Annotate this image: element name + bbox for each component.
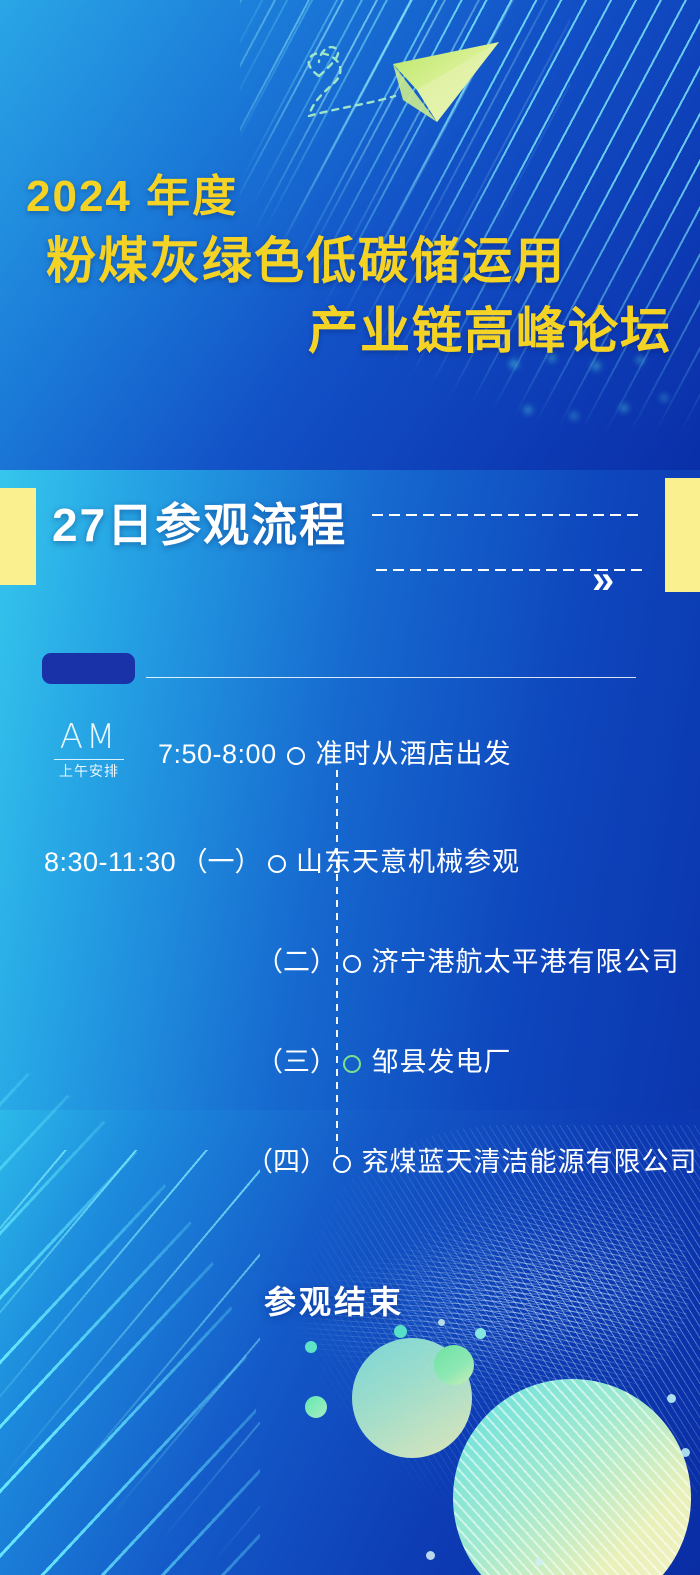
headline-line-2: 粉煤灰绿色低碳储运用 (0, 226, 700, 296)
period-label: 上午安排 (46, 762, 132, 780)
decor-dot (535, 1558, 543, 1566)
schedule-pill-badge (42, 653, 135, 684)
section-dashed-line-top (372, 514, 644, 516)
row-time: 8:30-11:30 (44, 847, 176, 877)
row-bullet-icon (343, 955, 361, 973)
row-index: （一） (181, 847, 262, 877)
row-text: 济宁港航太平港有限公司 (371, 947, 679, 977)
decor-dot (305, 1341, 317, 1353)
decor-dot (305, 1396, 327, 1418)
row-index: （二） (256, 947, 337, 977)
decor-dot (394, 1325, 407, 1338)
schedule-divider-line (146, 677, 636, 678)
section-title: 27日参观流程 (52, 492, 347, 558)
row-time: 7:50-8:00 (158, 739, 277, 769)
schedule-section: AM 上午安排 7:50-8:00 准时从酒店出发 8:30-11:30 （一）… (0, 592, 700, 1292)
paper-plane-icon (285, 28, 525, 148)
paper-plane-decoration (285, 28, 525, 148)
row-bullet-icon (287, 747, 305, 765)
row-index: （三） (256, 1047, 337, 1077)
period-rule (54, 759, 124, 760)
headline-line-1: 2024 年度 (0, 168, 700, 226)
row-bullet-icon (333, 1155, 351, 1173)
row-index: （四） (246, 1147, 327, 1177)
row-text: 兖煤蓝天清洁能源有限公司 (361, 1147, 697, 1177)
schedule-row: （二） 济宁港航太平港有限公司 (256, 940, 679, 979)
row-text: 邹县发电厂 (371, 1047, 511, 1077)
decor-dot (426, 1551, 435, 1560)
schedule-row: 8:30-11:30 （一） 山东天意机械参观 (44, 840, 520, 879)
headline-line-3-text: 产业链高峰论坛 (308, 303, 672, 359)
heart-dashed-trail-icon (309, 53, 341, 116)
period-marker: AM 上午安排 (46, 718, 132, 780)
poster-canvas: 2024 年度 粉煤灰绿色低碳储运用 产业链高峰论坛 27日参观流程 » AM … (0, 0, 700, 1575)
band-bar-right (665, 478, 700, 592)
decor-dot (438, 1319, 445, 1326)
band-bar-left (0, 488, 36, 585)
row-text: 准时从酒店出发 (316, 739, 512, 769)
headline-line-3: 产业链高峰论坛 (0, 296, 700, 366)
decor-dot (681, 1448, 690, 1457)
decor-dot (475, 1328, 486, 1339)
schedule-row: （四） 兖煤蓝天清洁能源有限公司 (246, 1140, 697, 1179)
decor-circle-small-green (434, 1345, 474, 1385)
decor-dot (667, 1394, 676, 1403)
schedule-row: （三） 邹县发电厂 (256, 1040, 511, 1079)
schedule-row: 7:50-8:00 准时从酒店出发 (158, 732, 512, 771)
row-bullet-icon (343, 1055, 361, 1073)
period-abbr: AM (46, 718, 132, 756)
poster-headline: 2024 年度 粉煤灰绿色低碳储运用 产业链高峰论坛 (0, 168, 700, 366)
row-text: 山东天意机械参观 (296, 847, 520, 877)
schedule-end-label: 参观结束 (264, 1277, 404, 1323)
row-bullet-icon (268, 855, 286, 873)
